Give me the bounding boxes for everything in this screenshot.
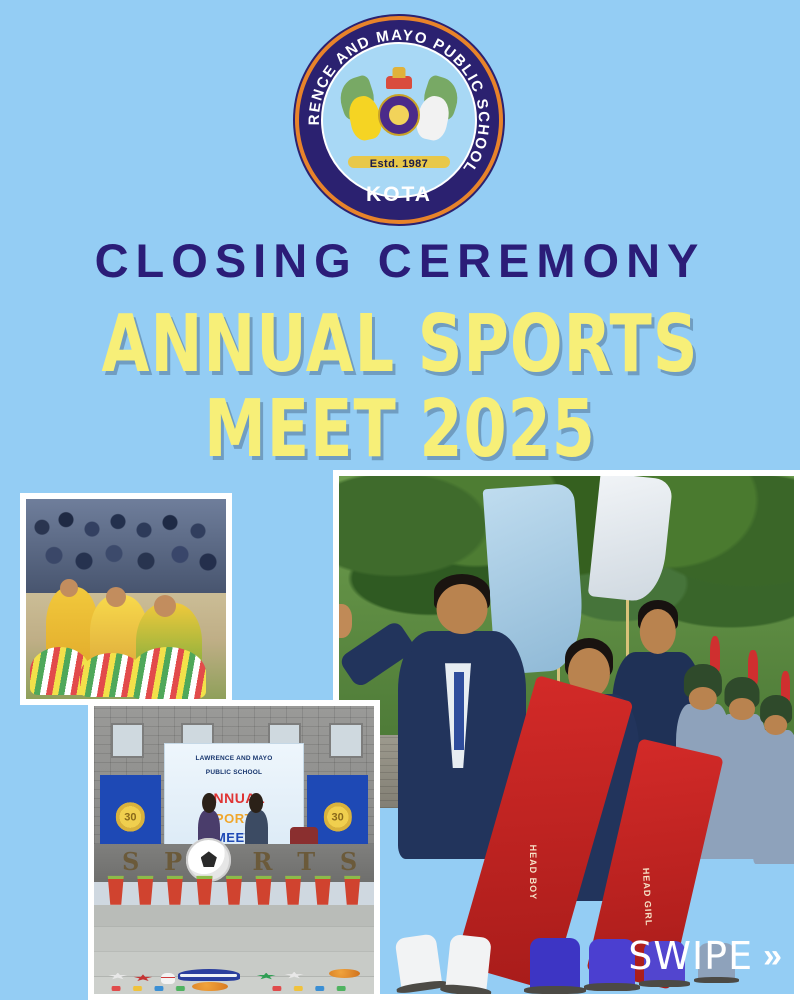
school-logo: LAWRENCE AND MAYO PUBLIC SCHOOL Estd. 19… <box>299 20 499 220</box>
shoe-icon <box>584 983 640 991</box>
banner-school-line-1: LAWRENCE AND MAYO <box>176 755 292 763</box>
stage-steps <box>94 905 374 994</box>
potted-plant <box>312 876 333 905</box>
potted-plant <box>223 876 244 905</box>
stage-backdrop-photo: LAWRENCE AND MAYO PUBLIC SCHOOL ANNUAL S… <box>88 700 380 1000</box>
bowling-pin-decoration-icon <box>161 973 175 985</box>
cadet-face <box>729 698 755 720</box>
head-boy-head <box>436 584 487 634</box>
potted-plant <box>105 876 126 905</box>
building-window <box>329 723 363 758</box>
march-past-parade-photo: HEAD GIRL HEAD BOY <box>333 470 800 1000</box>
leg-white-2 <box>445 934 492 994</box>
banner-event-line-2: SPORTS <box>165 811 303 826</box>
crest-established-year: Estd. 1987 <box>299 158 499 170</box>
potted-plant <box>135 876 156 905</box>
coat-of-arms <box>344 70 454 170</box>
swipe-label: SWIPE <box>628 934 753 978</box>
folk-dance-performance-photo <box>20 493 232 705</box>
swipe-indicator[interactable]: SWIPE » <box>628 934 778 978</box>
potted-plant <box>194 876 215 905</box>
flower-decoration-strip <box>100 986 369 991</box>
shoe-icon <box>639 980 690 987</box>
crest-city-label: KOTA <box>299 183 499 207</box>
cadet-face <box>764 715 788 735</box>
leg-white-1 <box>395 933 443 991</box>
page-title-line-2: MEET 2025 <box>0 382 800 475</box>
folk-dancer-2-head <box>106 587 126 607</box>
leg-blue-1 <box>530 938 580 993</box>
potted-plant <box>283 876 304 905</box>
marcher-rear-head <box>639 609 675 655</box>
shoe-icon <box>524 986 586 995</box>
folk-dancer-3-head <box>154 595 176 617</box>
building-window <box>111 723 145 758</box>
cadet-face <box>689 687 717 710</box>
folk-dancer-3-skirt <box>130 647 206 699</box>
poster-canvas: LAWRENCE AND MAYO PUBLIC SCHOOL Estd. 19… <box>0 0 800 1000</box>
star-decoration-icon <box>108 973 128 980</box>
stage-sports-letters: S P O R T S <box>122 838 357 875</box>
basketball-decoration-icon <box>329 969 360 978</box>
head-boy-saluting-hand <box>333 604 352 638</box>
anniversary-medal-badge-right <box>323 798 351 835</box>
folk-dancer-1-head <box>60 579 78 597</box>
page-title-line-1: ANNUAL SPORTS <box>0 297 800 390</box>
helmet-decoration-icon <box>178 969 240 981</box>
stage-letter: S <box>122 847 139 876</box>
potted-plants-row <box>105 876 363 905</box>
banner-school-line-2: PUBLIC SCHOOL <box>176 769 292 777</box>
page-kicker: CLOSING CEREMONY <box>0 233 800 288</box>
chevron-right-double-icon: » <box>763 937 778 976</box>
seated-student-audience <box>26 499 226 593</box>
potted-plant <box>253 876 274 905</box>
shoe-icon <box>440 983 491 997</box>
stage-letter: T <box>297 847 315 876</box>
head-boy-tie <box>454 672 464 749</box>
crown-icon <box>386 76 412 89</box>
star-decoration-icon <box>284 972 304 979</box>
stage-letter: S <box>340 847 357 876</box>
stage-letter: R <box>253 847 273 876</box>
anniversary-medal-badge-left <box>116 798 144 835</box>
star-decoration-icon <box>133 974 153 981</box>
potted-plant <box>164 876 185 905</box>
shield-icon <box>378 94 420 136</box>
potted-plant <box>342 876 363 905</box>
star-decoration-icon <box>256 973 276 980</box>
stage-letter: P <box>164 847 182 876</box>
banner-event-line-1: ANNUAL <box>165 790 303 806</box>
